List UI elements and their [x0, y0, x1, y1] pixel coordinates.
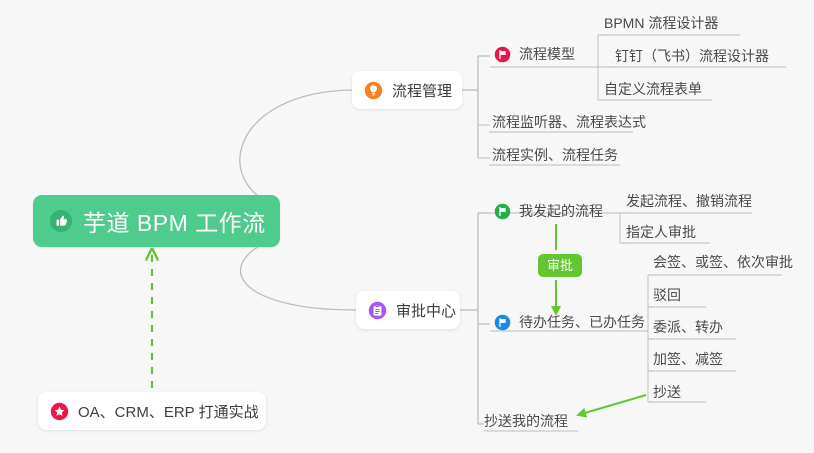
- sub-node-wo-faqi[interactable]: 我发起的流程: [492, 198, 603, 224]
- leaf-node-huiqian[interactable]: 会签、或签、依次审批: [653, 250, 793, 274]
- sub-node-liucheng-moxing[interactable]: 流程模型: [492, 41, 575, 67]
- flag-icon: [494, 314, 511, 331]
- leaf-node-faqi-chexiao[interactable]: 发起流程、撤销流程: [626, 189, 752, 213]
- leaf-node-jiaqian[interactable]: 加签、减签: [653, 347, 723, 371]
- leaf-node-bpmn[interactable]: BPMN 流程设计器: [604, 11, 718, 35]
- branch-node-shenpi-zhongxin[interactable]: 审批中心: [356, 291, 460, 329]
- lightbulb-icon: [364, 81, 383, 100]
- sub-node-label: 待办任务、已办任务: [519, 312, 645, 332]
- branch-node-liucheng-guanli[interactable]: 流程管理: [352, 71, 462, 109]
- branch-label: 流程管理: [392, 80, 452, 101]
- root-label: 芋道 BPM 工作流: [83, 204, 266, 238]
- sub-node-label: 流程模型: [519, 44, 575, 64]
- arrow-chaosong-to-wode: [578, 395, 646, 415]
- flag-icon: [494, 203, 511, 220]
- tag-shenpi[interactable]: 审批: [538, 254, 582, 277]
- sub-node-daiban-yiban[interactable]: 待办任务、已办任务: [492, 309, 645, 335]
- star-icon: [50, 402, 69, 421]
- mindmap-canvas: 芋道 BPM 工作流 流程管理 审批中心: [0, 0, 814, 453]
- leaf-node-zidingyi[interactable]: 自定义流程表单: [604, 77, 702, 101]
- branch-label: 审批中心: [396, 300, 456, 321]
- leaf-node-chaosong[interactable]: 抄送: [653, 380, 681, 404]
- sub-node-label: 我发起的流程: [519, 201, 603, 221]
- flag-icon: [494, 46, 511, 63]
- thumbs-up-icon: [49, 209, 73, 233]
- edge-root-to-shenpi-zhongxin: [241, 236, 356, 310]
- edge-root-to-liucheng-guanli: [240, 90, 352, 207]
- leaf-node-jianting[interactable]: 流程监听器、流程表达式: [492, 110, 646, 134]
- leaf-node-zhidingren[interactable]: 指定人审批: [626, 220, 696, 244]
- bottom-node-label: OA、CRM、ERP 打通实战: [78, 401, 259, 422]
- leaf-node-dingding[interactable]: 钉钉（飞书）流程设计器: [615, 44, 769, 68]
- root-node[interactable]: 芋道 BPM 工作流: [33, 195, 280, 247]
- leaf-node-weipai[interactable]: 委派、转办: [653, 315, 723, 339]
- bottom-node-oa-crm-erp[interactable]: OA、CRM、ERP 打通实战: [38, 392, 266, 430]
- clipboard-icon: [368, 301, 387, 320]
- leaf-node-bohui[interactable]: 驳回: [653, 283, 681, 307]
- leaf-node-chaosong-wode[interactable]: 抄送我的流程: [484, 409, 568, 433]
- leaf-node-shili[interactable]: 流程实例、流程任务: [492, 143, 618, 167]
